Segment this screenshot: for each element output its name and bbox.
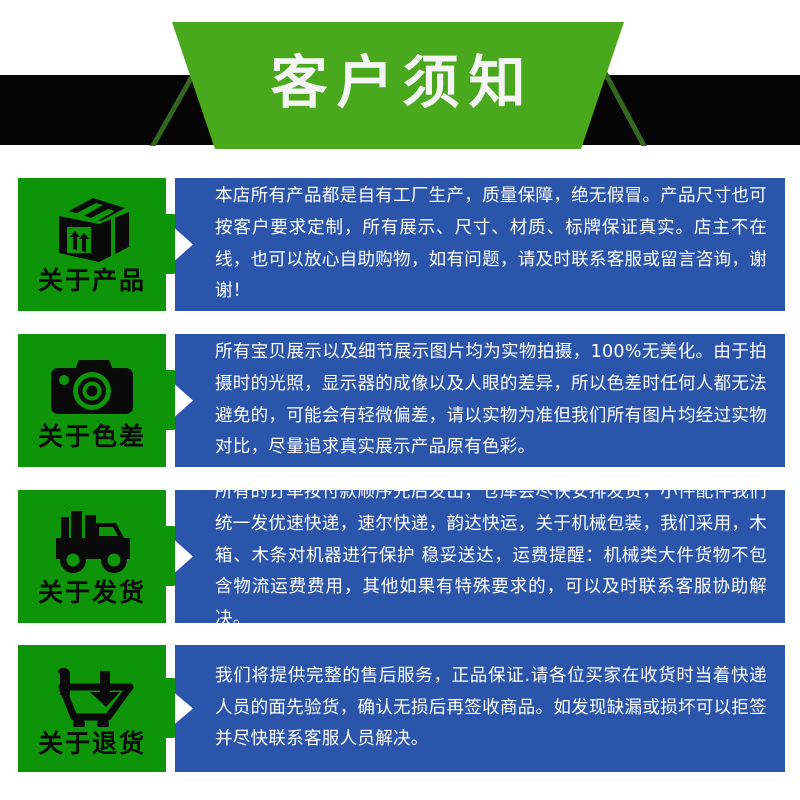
ribbon-shape: 客户须知: [172, 22, 624, 149]
icon-card-label-color: 关于色差: [38, 424, 146, 449]
notice-text-shipping: 所有的订单按付款顺序先后发出，仓库会尽快安排发货，小件配件我们统一发优速快递，速…: [175, 477, 785, 636]
icon-card-product[interactable]: 关于产品: [18, 178, 166, 311]
customer-notice-page: 客户须知: [0, 0, 800, 800]
notice-text-color: 所有宝贝展示以及细节展示图片均为实物拍摄，100%无美化。由于拍摄时的光照，显示…: [175, 337, 785, 464]
notice-row-shipping: 关于发货 所有的订单按付款顺序先后发出，仓库会尽快安排发货，小件配件我们统一发优…: [0, 490, 800, 623]
page-title: 客户须知: [262, 55, 535, 116]
icon-card-color[interactable]: 关于色差: [18, 334, 166, 467]
page-header-banner: 客户须知: [0, 0, 800, 170]
icon-card-label-return: 关于退货: [38, 731, 146, 756]
text-panel-shipping: 所有的订单按付款顺序先后发出，仓库会尽快安排发货，小件配件我们统一发优速快递，速…: [175, 490, 785, 623]
icon-card-return[interactable]: 关于退货: [18, 645, 166, 772]
text-panel-product: 本店所有产品都是自有工厂生产，质量保障，绝无假冒。产品尺寸也可按客户要求定制，所…: [175, 178, 785, 311]
text-panel-color: 所有宝贝展示以及细节展示图片均为实物拍摄，100%无美化。由于拍摄时的光照，显示…: [175, 334, 785, 467]
return-cart-icon: [42, 657, 142, 731]
icon-card-label-product: 关于产品: [38, 268, 146, 293]
camera-icon: [42, 350, 142, 424]
text-panel-return: 我们将提供完整的售后服务，正品保证.请各位买家在收货时当着快递人员的面先验货，确…: [175, 645, 785, 772]
shipping-box-icon: [42, 192, 142, 268]
notice-text-return: 我们将提供完整的售后服务，正品保证.请各位买家在收货时当着快递人员的面先验货，确…: [175, 661, 785, 757]
delivery-truck-icon: [42, 504, 142, 580]
notice-text-product: 本店所有产品都是自有工厂生产，质量保障，绝无假冒。产品尺寸也可按客户要求定制，所…: [175, 181, 785, 308]
notice-row-color: 关于色差 所有宝贝展示以及细节展示图片均为实物拍摄，100%无美化。由于拍摄时的…: [0, 334, 800, 467]
icon-card-shipping[interactable]: 关于发货: [18, 490, 166, 623]
notice-row-product: 关于产品 本店所有产品都是自有工厂生产，质量保障，绝无假冒。产品尺寸也可按客户要…: [0, 178, 800, 311]
notice-row-return: 关于退货 我们将提供完整的售后服务，正品保证.请各位买家在收货时当着快递人员的面…: [0, 645, 800, 772]
icon-card-label-shipping: 关于发货: [38, 580, 146, 605]
